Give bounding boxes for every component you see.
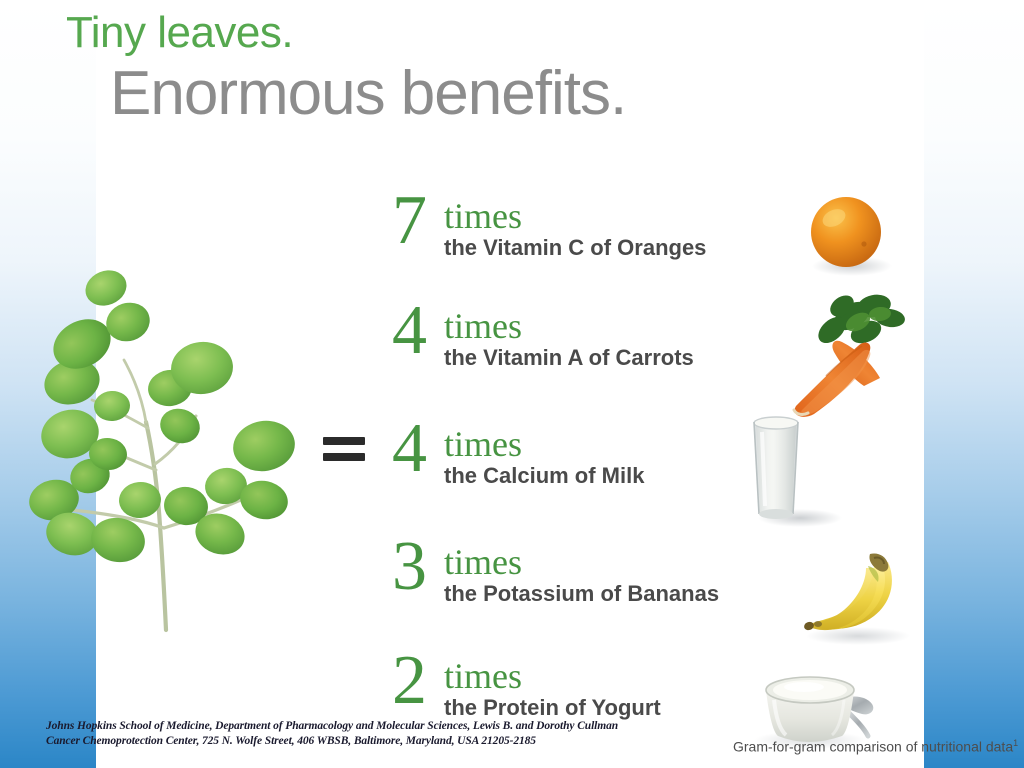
equals-bar-bottom (323, 453, 365, 461)
benefit-description: the Protein of Yogurt (444, 696, 661, 720)
comparison-caption: Gram-for-gram comparison of nutritional … (733, 738, 1018, 755)
benefit-description: the Vitamin A of Carrots (444, 346, 694, 370)
benefit-times-label: times (444, 308, 522, 344)
moringa-leaf-sprig (14, 238, 304, 638)
benefit-multiplier: 3 (392, 532, 427, 602)
benefit-times-label: times (444, 198, 522, 234)
bananas-image (796, 544, 926, 659)
caption-text: Gram-for-gram comparison of nutritional … (733, 739, 1013, 755)
benefit-description: the Vitamin C of Oranges (444, 236, 706, 260)
benefit-times-label: times (444, 544, 522, 580)
benefit-multiplier: 2 (392, 646, 427, 716)
citation-line-1: Johns Hopkins School of Medicine, Depart… (46, 719, 686, 734)
benefit-multiplier: 4 (392, 296, 427, 366)
source-citation: Johns Hopkins School of Medicine, Depart… (46, 719, 686, 749)
benefit-times-label: times (444, 658, 522, 694)
benefit-row-vitamin-a: 4 times the Vitamin A of Carrots (392, 302, 828, 412)
headline-line-1: Tiny leaves. (66, 8, 293, 58)
benefit-times-label: times (444, 426, 522, 462)
slide-canvas: Tiny leaves. Enormous benefits. (0, 0, 1024, 768)
orange-fruit-image (796, 188, 906, 293)
citation-line-2: Cancer Chemoprotection Center, 725 N. Wo… (46, 734, 686, 749)
benefit-row-potassium: 3 times the Potassium of Bananas (392, 538, 828, 648)
equals-sign (323, 437, 365, 463)
benefit-row-calcium: 4 times the Calcium of Milk (392, 420, 828, 530)
benefit-multiplier: 4 (392, 414, 427, 484)
caption-superscript: 1 (1013, 738, 1018, 748)
benefit-multiplier: 7 (392, 186, 427, 256)
headline-line-2: Enormous benefits. (110, 58, 626, 129)
benefit-description: the Calcium of Milk (444, 464, 644, 488)
benefit-description: the Potassium of Bananas (444, 582, 719, 606)
glass-of-milk-image (734, 408, 854, 543)
benefit-row-vitamin-c: 7 times the Vitamin C of Oranges (392, 192, 828, 302)
equals-bar-top (323, 437, 365, 445)
